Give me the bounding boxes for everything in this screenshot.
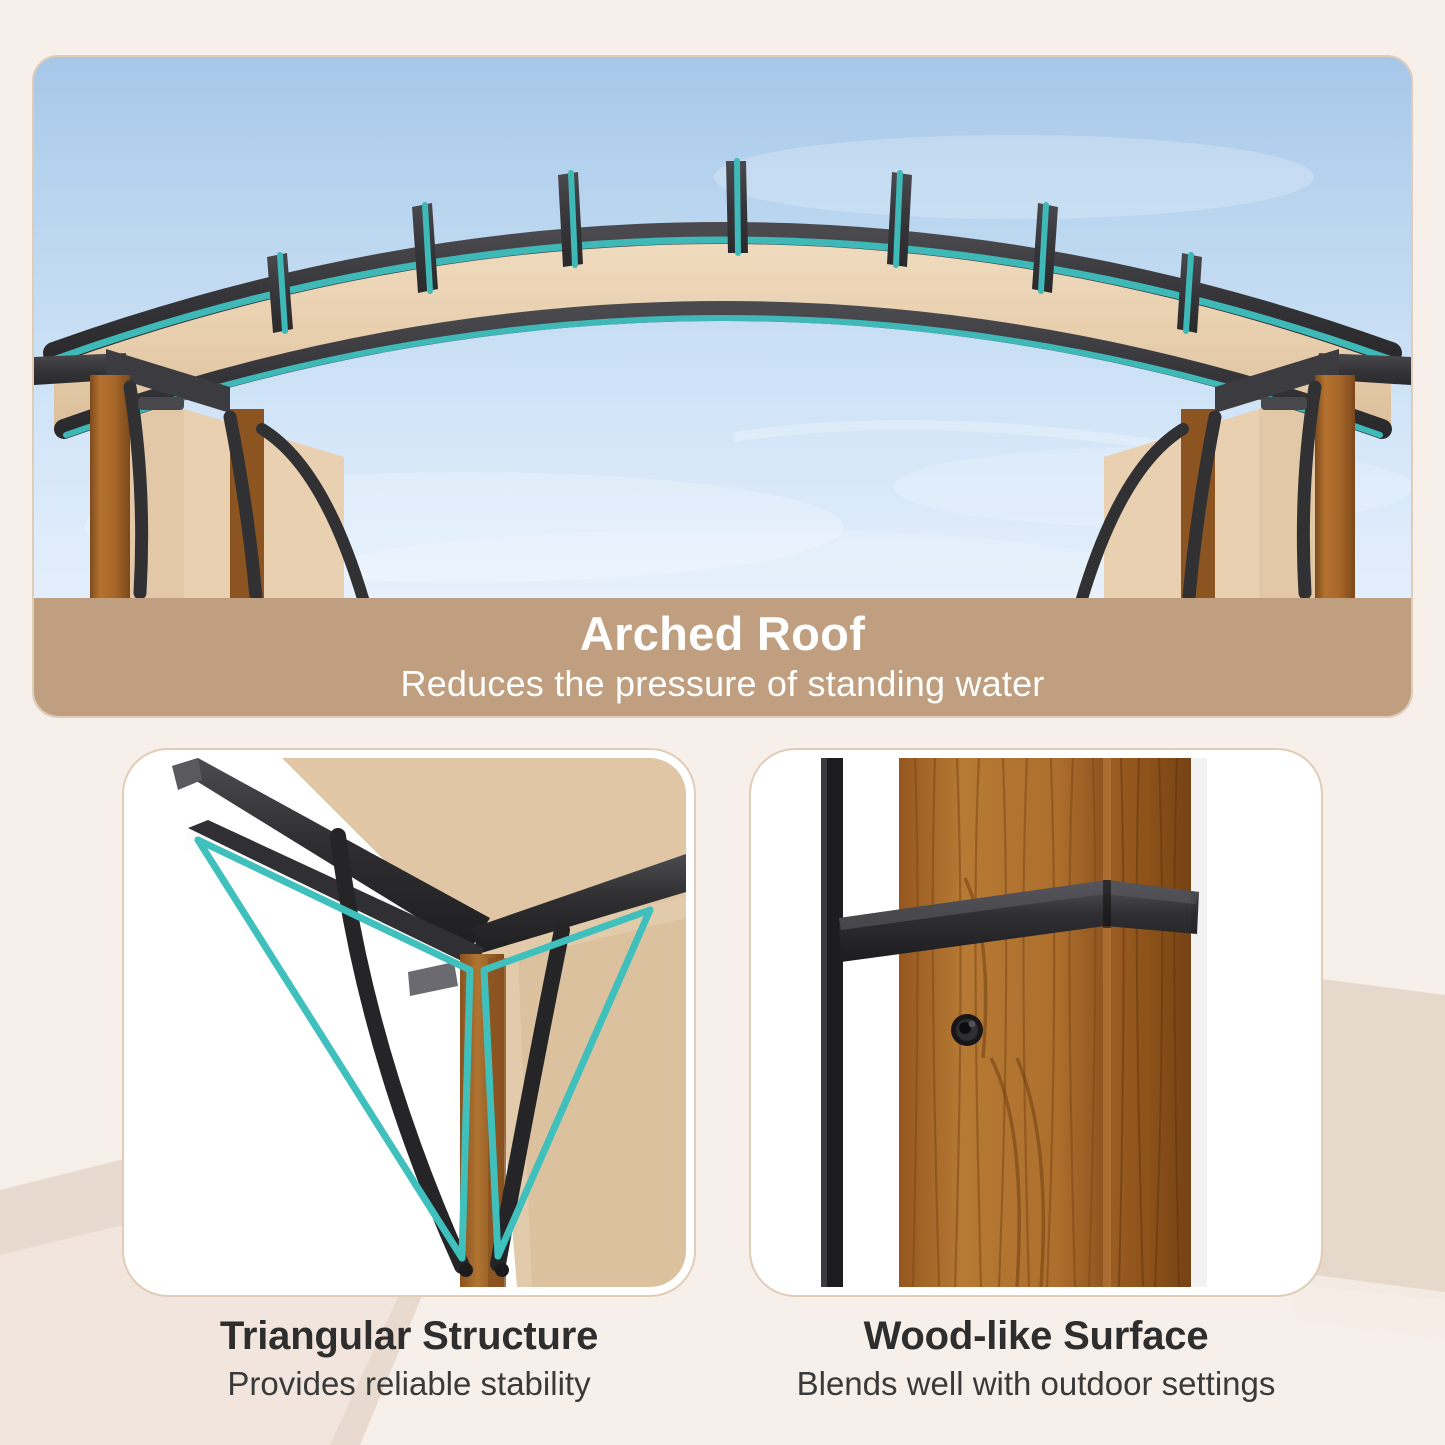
detail-heading-left: Triangular Structure — [124, 1313, 694, 1359]
corner-bracket-closeup-illustration — [132, 758, 686, 1287]
detail-description-left: Provides reliable stability — [124, 1365, 694, 1403]
wood-grain-post-closeup-illustration — [759, 758, 1313, 1287]
pergola-arched-roof-illustration — [34, 57, 1411, 602]
detail-image-frame-left — [124, 750, 694, 1295]
detail-label-right: Wood-like Surface Blends well with outdo… — [751, 1313, 1321, 1403]
hero-title: Arched Roof — [580, 609, 865, 658]
detail-image-frame-right — [751, 750, 1321, 1295]
hero-subtitle: Reduces the pressure of standing water — [401, 663, 1045, 705]
hero-feature-card: Arched Roof Reduces the pressure of stan… — [32, 55, 1413, 718]
hero-image — [34, 57, 1411, 602]
hero-caption-bar: Arched Roof Reduces the pressure of stan… — [34, 598, 1411, 716]
detail-heading-right: Wood-like Surface — [751, 1313, 1321, 1359]
detail-description-right: Blends well with outdoor settings — [751, 1365, 1321, 1403]
detail-card-triangular-structure: Triangular Structure Provides reliable s… — [124, 750, 694, 1295]
detail-card-wood-like-surface: Wood-like Surface Blends well with outdo… — [751, 750, 1321, 1295]
detail-label-left: Triangular Structure Provides reliable s… — [124, 1313, 694, 1403]
